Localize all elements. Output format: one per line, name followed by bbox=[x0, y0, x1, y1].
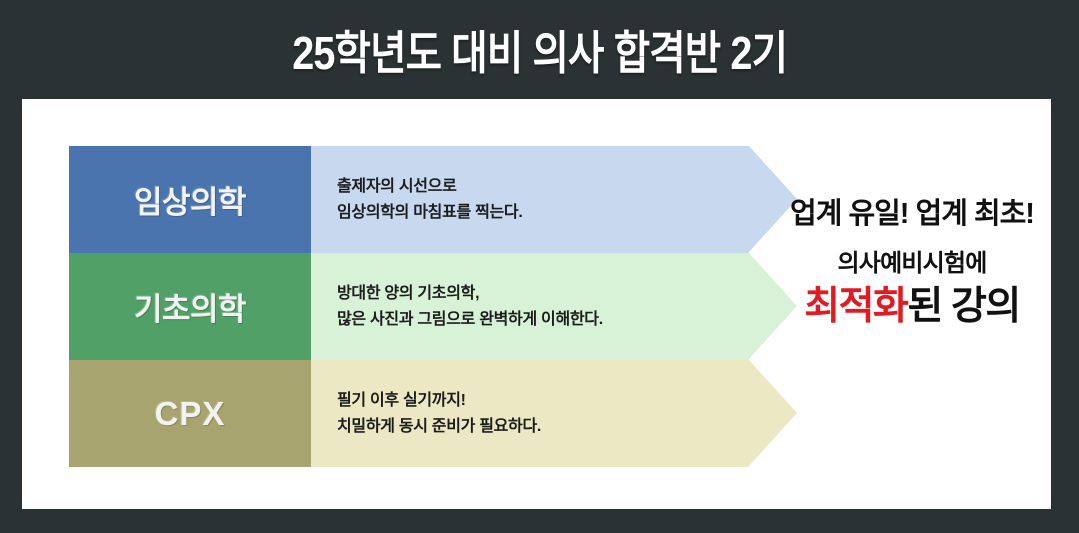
chevron-description-line-1: 방대한 양의 기초의학, bbox=[337, 281, 603, 307]
chevron-description-line-2: 많은 사진과 그림으로 완벽하게 이해한다. bbox=[337, 307, 603, 333]
chevron-description-line-1: 필기 이후 실기까지! bbox=[337, 388, 541, 414]
chevron-description-basic: 방대한 양의 기초의학, 많은 사진과 그림으로 완벽하게 이해한다. bbox=[337, 281, 603, 333]
chevron-stack: 임상의학 출제자의 시선으로 임상의학의 마침표를 찍는다. 기초의학 방대한 … bbox=[69, 146, 749, 467]
chevron-label-text: CPX bbox=[155, 395, 226, 433]
chevron-row-basic: 기초의학 방대한 양의 기초의학, 많은 사진과 그림으로 완벽하게 이해한다. bbox=[69, 253, 749, 360]
title-banner: 25학년도 대비 의사 합격반 2기 bbox=[0, 0, 1079, 99]
promo-tagline: 최적화된 강의 bbox=[767, 285, 1057, 330]
chevron-description-clinical: 출제자의 시선으로 임상의학의 마침표를 찍는다. bbox=[337, 174, 522, 226]
chevron-arrow-icon bbox=[749, 360, 797, 466]
chevron-row-clinical: 임상의학 출제자의 시선으로 임상의학의 마침표를 찍는다. bbox=[69, 146, 749, 253]
chevron-description-line-1: 출제자의 시선으로 bbox=[337, 174, 522, 200]
chevron-row-cpx: CPX 필기 이후 실기까지! 치밀하게 동시 준비가 필요하다. bbox=[69, 360, 749, 467]
chevron-label-text: 임상의학 bbox=[134, 177, 246, 222]
chevron-label-cpx: CPX bbox=[69, 360, 311, 467]
chevron-description-cpx: 필기 이후 실기까지! 치밀하게 동시 준비가 필요하다. bbox=[337, 388, 541, 440]
chevron-body-cpx: 필기 이후 실기까지! 치밀하게 동시 준비가 필요하다. bbox=[311, 360, 749, 467]
promo-subline: 의사예비시험에 bbox=[767, 251, 1057, 277]
promo-panel: 업계 유일! 업계 최초! 의사예비시험에 최적화된 강의 bbox=[767, 199, 1057, 330]
content-card: 임상의학 출제자의 시선으로 임상의학의 마침표를 찍는다. 기초의학 방대한 … bbox=[22, 99, 1051, 509]
chevron-label-text: 기초의학 bbox=[134, 284, 246, 329]
promo-tagline-highlight: 최적화 bbox=[804, 285, 907, 328]
promo-tagline-rest: 된 강의 bbox=[907, 285, 1019, 328]
chevron-description-line-2: 임상의학의 마침표를 찍는다. bbox=[337, 200, 522, 226]
promo-headline: 업계 유일! 업계 최초! bbox=[767, 199, 1057, 231]
chevron-body-clinical: 출제자의 시선으로 임상의학의 마침표를 찍는다. bbox=[311, 146, 749, 253]
page-title: 25학년도 대비 의사 합격반 2기 bbox=[292, 17, 787, 83]
chevron-body-basic: 방대한 양의 기초의학, 많은 사진과 그림으로 완벽하게 이해한다. bbox=[311, 253, 749, 360]
chevron-label-basic: 기초의학 bbox=[69, 253, 311, 360]
chevron-label-clinical: 임상의학 bbox=[69, 146, 311, 253]
chevron-description-line-2: 치밀하게 동시 준비가 필요하다. bbox=[337, 414, 541, 440]
